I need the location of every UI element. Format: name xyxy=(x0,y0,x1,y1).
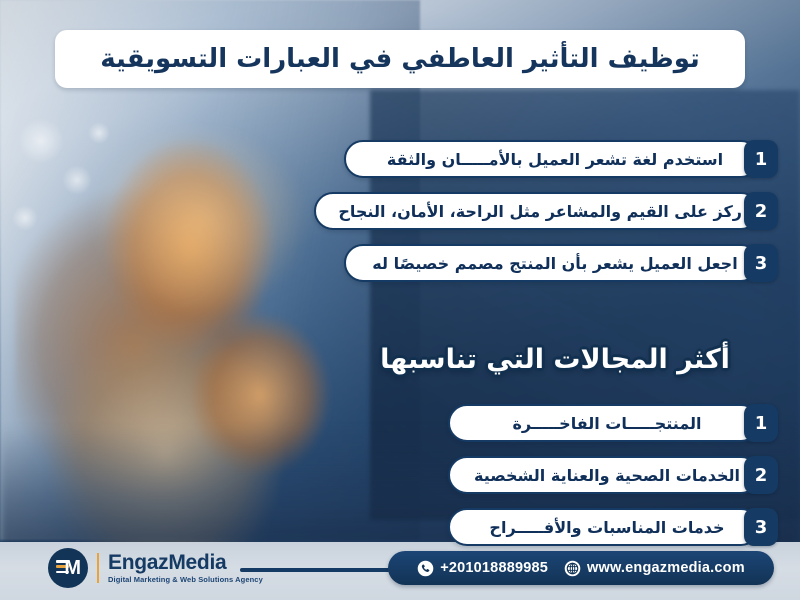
list-item[interactable]: 1 المنتجـــــات الفاخـــــرة xyxy=(448,404,778,442)
item-pill[interactable]: اجعل العميل يشعر بأن المنتج مصمم خصيصًا … xyxy=(344,244,760,282)
item-pill[interactable]: الخدمات الصحية والعناية الشخصية xyxy=(448,456,760,494)
phone-number: +201018889985 xyxy=(440,560,548,576)
list-item[interactable]: 1 استخدم لغة تشعر العميل بالأمـــــان وا… xyxy=(344,140,778,178)
list-item[interactable]: 2 الخدمات الصحية والعناية الشخصية xyxy=(448,456,778,494)
logo-letter-m: M xyxy=(64,558,81,578)
list-item[interactable]: 3 اجعل العميل يشعر بأن المنتج مصمم خصيصً… xyxy=(344,244,778,282)
list-item-label: خدمات المناسبات والأفـــــراح xyxy=(472,518,742,537)
footer-divider-line xyxy=(240,568,390,572)
title-banner: توظيف التأثير العاطفي في العبارات التسوي… xyxy=(55,30,745,88)
section-heading: أكثر المجالات التي تناسبها xyxy=(340,344,770,375)
phone-contact[interactable]: +201018889985 xyxy=(417,560,548,577)
list-item-label: استخدم لغة تشعر العميل بالأمـــــان والث… xyxy=(368,150,742,169)
item-pill[interactable]: استخدم لغة تشعر العميل بالأمـــــان والث… xyxy=(344,140,760,178)
item-pill[interactable]: خدمات المناسبات والأفـــــراح xyxy=(448,508,760,546)
website-url: www.engazmedia.com xyxy=(587,560,745,576)
infographic-canvas: توظيف التأثير العاطفي في العبارات التسوي… xyxy=(0,0,800,600)
logo-divider xyxy=(97,553,99,583)
contact-bar: +201018889985 www.engazmedia.com xyxy=(388,551,774,585)
list-item-label: ركز على القيم والمشاعر مثل الراحة، الأما… xyxy=(338,202,742,221)
globe-icon xyxy=(564,560,581,577)
item-number-badge: 1 xyxy=(744,404,778,442)
list-item[interactable]: 3 خدمات المناسبات والأفـــــراح xyxy=(448,508,778,546)
brand-tagline: Digital Marketing & Web Solutions Agency xyxy=(108,574,263,585)
item-number-badge: 2 xyxy=(744,456,778,494)
list-item-label: الخدمات الصحية والعناية الشخصية xyxy=(472,466,742,485)
item-number-badge: 1 xyxy=(744,140,778,178)
em-monogram-icon: M xyxy=(48,548,88,588)
item-pill[interactable]: ركز على القيم والمشاعر مثل الراحة، الأما… xyxy=(314,192,760,230)
phone-icon xyxy=(417,560,434,577)
item-pill[interactable]: المنتجـــــات الفاخـــــرة xyxy=(448,404,760,442)
item-number-badge: 3 xyxy=(744,244,778,282)
website-contact[interactable]: www.engazmedia.com xyxy=(564,560,745,577)
page-title: توظيف التأثير العاطفي في العبارات التسوي… xyxy=(100,44,700,74)
list-item-label: اجعل العميل يشعر بأن المنتج مصمم خصيصًا … xyxy=(368,254,742,273)
list-item-label: المنتجـــــات الفاخـــــرة xyxy=(472,414,742,433)
list-item[interactable]: 2 ركز على القيم والمشاعر مثل الراحة، الأ… xyxy=(344,192,778,230)
item-number-badge: 2 xyxy=(744,192,778,230)
brand-logo[interactable]: M EngazMedia Digital Marketing & Web Sol… xyxy=(48,548,263,588)
item-number-badge: 3 xyxy=(744,508,778,546)
